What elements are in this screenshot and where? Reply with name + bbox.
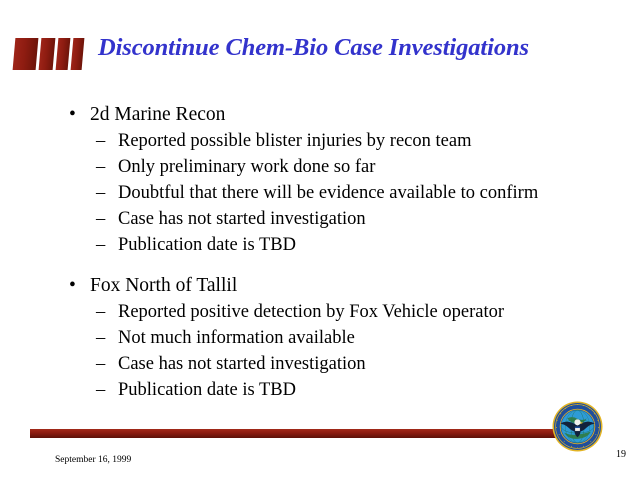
slide-canvas: Discontinue Chem-Bio Case Investigations… [0,0,640,480]
group-spacer [0,258,640,272]
level2-bullet-text: Not much information available [118,325,640,351]
bullet-group-2: • Fox North of Tallil – Reported positiv… [0,272,640,403]
level1-bullet-text: Fox North of Tallil [90,275,237,296]
dash-marker-icon: – [96,154,105,180]
level2-bullet-text: Case has not started investigation [118,206,640,232]
bullet-dot-icon: • [69,101,76,128]
decoration-bar-1 [13,38,39,70]
level2-bullet-text: Publication date is TBD [118,232,640,258]
title-decoration-bars-icon [14,38,86,70]
decoration-bar-2 [39,38,56,70]
dash-marker-icon: – [96,325,105,351]
level2-bullet: – Case has not started investigation [0,206,640,232]
level2-bullet: – Reported positive detection by Fox Veh… [0,299,640,325]
level2-bullet: – Publication date is TBD [0,232,640,258]
level1-bullet-text: 2d Marine Recon [90,104,225,125]
level2-bullet-text: Reported possible blister injuries by re… [118,128,640,154]
level2-bullet: – Not much information available [0,325,640,351]
level2-bullet: – Case has not started investigation [0,351,640,377]
page-number: 19 [616,449,626,461]
level2-bullet: – Publication date is TBD [0,377,640,403]
level2-bullet-text: Doubtful that there will be evidence ava… [118,180,640,206]
level1-bullet-2d-marine-recon: • 2d Marine Recon [0,101,640,128]
decoration-bar-4 [71,38,85,70]
level2-bullet: – Doubtful that there will be evidence a… [0,180,640,206]
level2-bullet: – Reported possible blister injuries by … [0,128,640,154]
department-of-defense-seal-icon [552,401,603,452]
level2-bullet-text: Case has not started investigation [118,351,640,377]
dash-marker-icon: – [96,351,105,377]
bullet-dot-icon: • [69,272,76,299]
slide-title: Discontinue Chem-Bio Case Investigations [98,32,634,64]
level2-bullet-text: Publication date is TBD [118,377,640,403]
bullet-group-1: • 2d Marine Recon – Reported possible bl… [0,101,640,258]
level1-bullet-fox-north-of-tallil: • Fox North of Tallil [0,272,640,299]
dash-marker-icon: – [96,299,105,325]
title-block: Discontinue Chem-Bio Case Investigations [0,30,640,78]
level2-bullet-text: Only preliminary work done so far [118,154,640,180]
dash-marker-icon: – [96,377,105,403]
footer-date: September 16, 1999 [55,454,131,466]
dash-marker-icon: – [96,232,105,258]
dash-marker-icon: – [96,128,105,154]
level2-bullet-text: Reported positive detection by Fox Vehic… [118,299,640,325]
level2-bullet: – Only preliminary work done so far [0,154,640,180]
dash-marker-icon: – [96,180,105,206]
decoration-bar-3 [56,38,71,70]
slide-body: • 2d Marine Recon – Reported possible bl… [0,101,640,403]
dash-marker-icon: – [96,206,105,232]
footer-accent-bar [30,429,567,438]
